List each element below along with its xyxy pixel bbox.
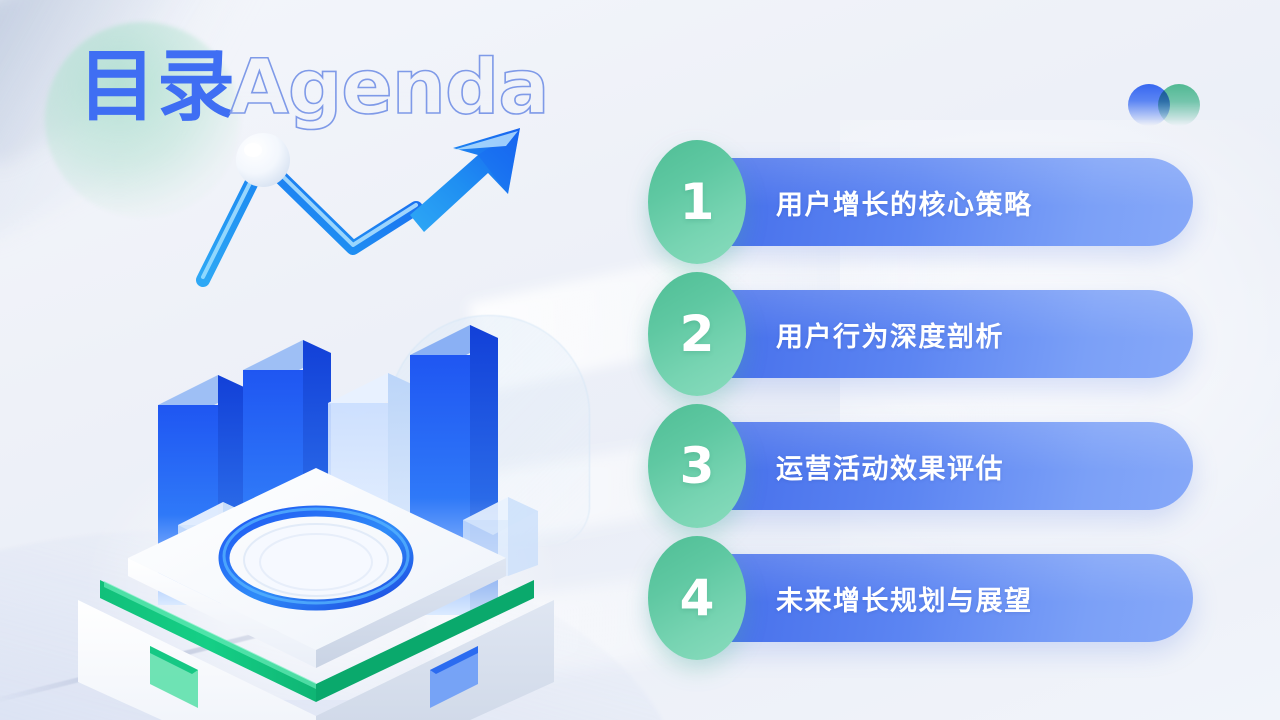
agenda-number-badge: 4 [648, 536, 746, 660]
agenda-item-label: 用户行为深度剖析 [776, 290, 1004, 378]
list-item[interactable]: 2 用户行为深度剖析 [648, 290, 1193, 378]
page-title-en: Agenda [230, 49, 549, 125]
agenda-slide: 目录 Agenda [0, 0, 1280, 720]
agenda-number-badge: 1 [648, 140, 746, 264]
agenda-number: 1 [680, 177, 715, 227]
isometric-platform-icon [58, 450, 578, 720]
agenda-number: 2 [680, 309, 715, 359]
dot-mark-decoration [1128, 84, 1202, 126]
growth-chart-illustration [58, 120, 578, 680]
page-title-cn: 目录 [78, 48, 236, 126]
green-dot-icon [1158, 84, 1200, 126]
agenda-item-label: 运营活动效果评估 [776, 422, 1004, 510]
list-item[interactable]: 3 运营活动效果评估 [648, 422, 1193, 510]
agenda-number-badge: 2 [648, 272, 746, 396]
agenda-number: 3 [680, 441, 715, 491]
agenda-number: 4 [680, 573, 715, 623]
list-item[interactable]: 1 用户增长的核心策略 [648, 158, 1193, 246]
agenda-item-label: 用户增长的核心策略 [776, 158, 1033, 246]
agenda-number-badge: 3 [648, 404, 746, 528]
page-title: 目录 Agenda [78, 48, 549, 126]
list-item[interactable]: 4 未来增长规划与展望 [648, 554, 1193, 642]
agenda-item-label: 未来增长规划与展望 [776, 554, 1033, 642]
agenda-list: 1 用户增长的核心策略 2 用户行为深度剖析 3 运营活动效果评估 4 未来增长… [648, 158, 1193, 642]
